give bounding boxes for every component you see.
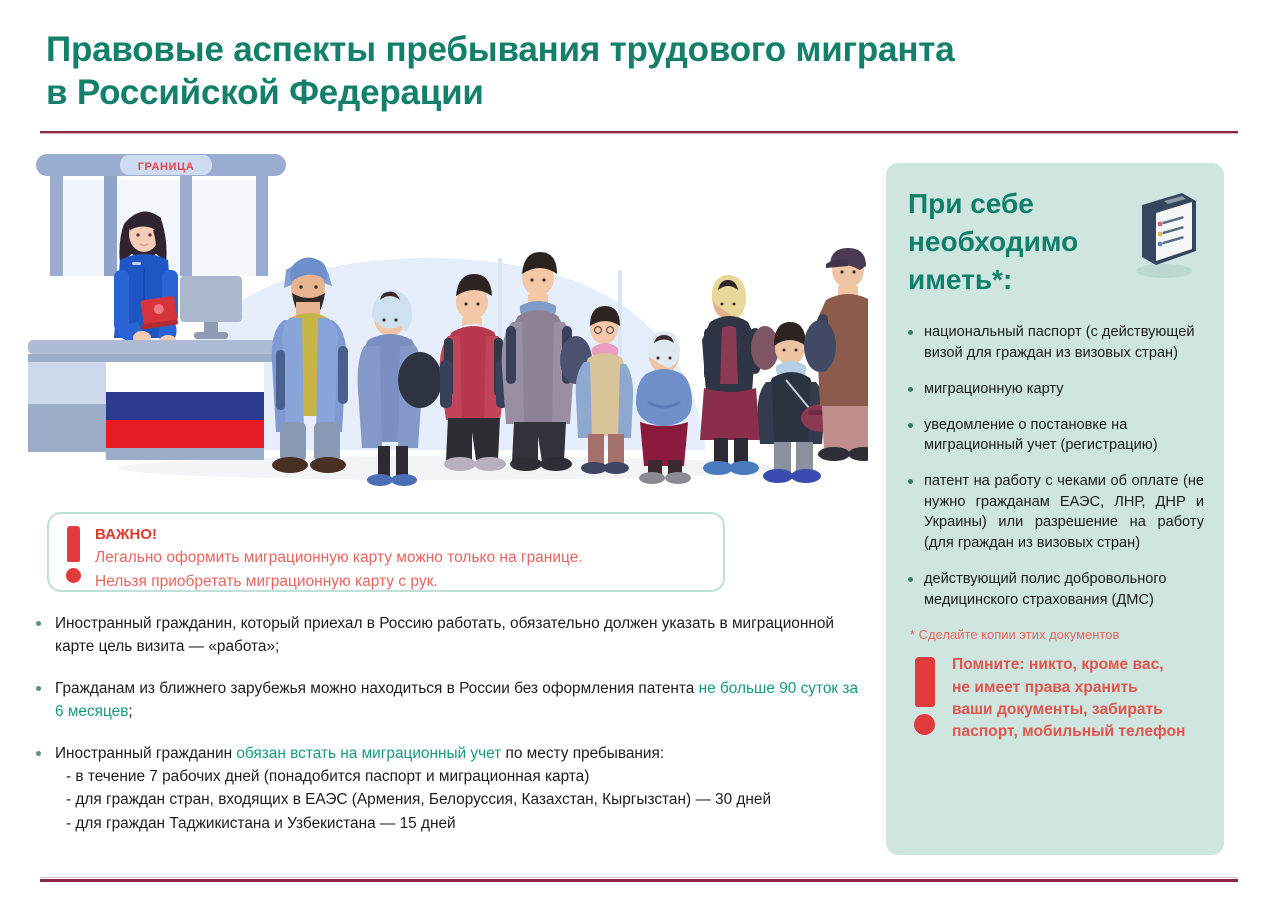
plain-phrase: Гражданам из ближнего зарубежья можно на… [55, 680, 699, 697]
title-divider [40, 131, 1238, 134]
important-callout: ВАЖНО! Легально оформить миграционную ка… [47, 512, 725, 592]
highlighted-phrase: обязан встать на миграционный учет [236, 745, 501, 762]
documents-list: национальный паспорт (с действующей визо… [908, 322, 1204, 610]
document-item: уведомление о постановке на миграционный… [908, 415, 1204, 456]
important-text: ВАЖНО! Легально оформить миграционную ка… [95, 524, 713, 594]
document-item: патент на работу с чеками об оплате (не … [908, 471, 1204, 554]
plain-phrase: ; [128, 703, 132, 720]
documents-sidebar: При себе необходимо иметь*: национальный… [886, 163, 1224, 855]
important-title: ВАЖНО! [95, 524, 713, 546]
main-list-text: Иностранный гражданин обязан встать на м… [55, 742, 771, 765]
main-list-text: Иностранный гражданин, который приехал в… [55, 612, 866, 659]
document-item-label: миграционную карту [924, 379, 1064, 400]
important-line-1: Легально оформить миграционную карту мож… [95, 546, 713, 570]
plain-phrase: по месту пребывания: [501, 745, 664, 762]
remember-callout: Помните: никто, кроме вас, не имеет прав… [908, 654, 1204, 743]
document-item: миграционную карту [908, 379, 1204, 400]
border-crossing-illustration: ГРАНИЦА [28, 150, 868, 490]
infographic-page: Правовые аспекты пребывания трудового ми… [0, 0, 1280, 905]
bullet-dot [908, 577, 913, 582]
page-title: Правовые аспекты пребывания трудового ми… [46, 28, 1226, 114]
remember-text: Помните: никто, кроме вас, не имеет прав… [952, 654, 1204, 743]
sidebar-title: При себе необходимо иметь*: [908, 185, 1118, 298]
document-item: национальный паспорт (с действующей визо… [908, 322, 1204, 363]
bullet-dot [908, 479, 913, 484]
sidebar-footnote: * Сделайте копии этих документов [910, 626, 1204, 644]
main-list-item: Гражданам из ближнего зарубежья можно на… [36, 677, 866, 724]
main-bullet-list: Иностранный гражданин, который приехал в… [36, 612, 866, 853]
important-line-2: Нельзя приобретать миграционную карту с … [95, 570, 713, 594]
bullet-dot [908, 330, 913, 335]
page-title-wrap: Правовые аспекты пребывания трудового ми… [46, 28, 1226, 114]
exclamation-icon [65, 526, 81, 582]
exclamation-icon [914, 657, 936, 735]
main-list-item: Иностранный гражданин обязан встать на м… [36, 742, 866, 836]
plain-phrase: Иностранный гражданин [55, 745, 236, 762]
bullet-dot [36, 686, 41, 691]
main-list-item: Иностранный гражданин, который приехал в… [36, 612, 866, 659]
document-item: действующий полис добровольного медицинс… [908, 569, 1204, 610]
clipboard-checklist-icon [1130, 189, 1202, 281]
main-list-subitem: - в течение 7 рабочих дней (понадобится … [55, 765, 771, 788]
main-list-subitem: - для граждан стран, входящих в ЕАЭС (Ар… [55, 788, 771, 811]
plain-phrase: Иностранный гражданин, который приехал в… [55, 615, 834, 655]
document-item-label: действующий полис добровольного медицинс… [924, 569, 1204, 610]
main-list-subitem: - для граждан Таджикистана и Узбекистана… [55, 812, 771, 835]
footer-divider [40, 879, 1238, 882]
bullet-dot [908, 387, 913, 392]
bullet-dot [36, 751, 41, 756]
document-item-label: патент на работу с чеками об оплате (не … [924, 471, 1204, 554]
border-sign-text: ГРАНИЦА [138, 161, 195, 173]
document-item-label: национальный паспорт (с действующей визо… [924, 322, 1204, 363]
bullet-dot [36, 621, 41, 626]
document-item-label: уведомление о постановке на миграционный… [924, 415, 1204, 456]
migrant-7 [700, 275, 779, 475]
main-list-text: Гражданам из ближнего зарубежья можно на… [55, 677, 866, 724]
bullet-dot [908, 423, 913, 428]
